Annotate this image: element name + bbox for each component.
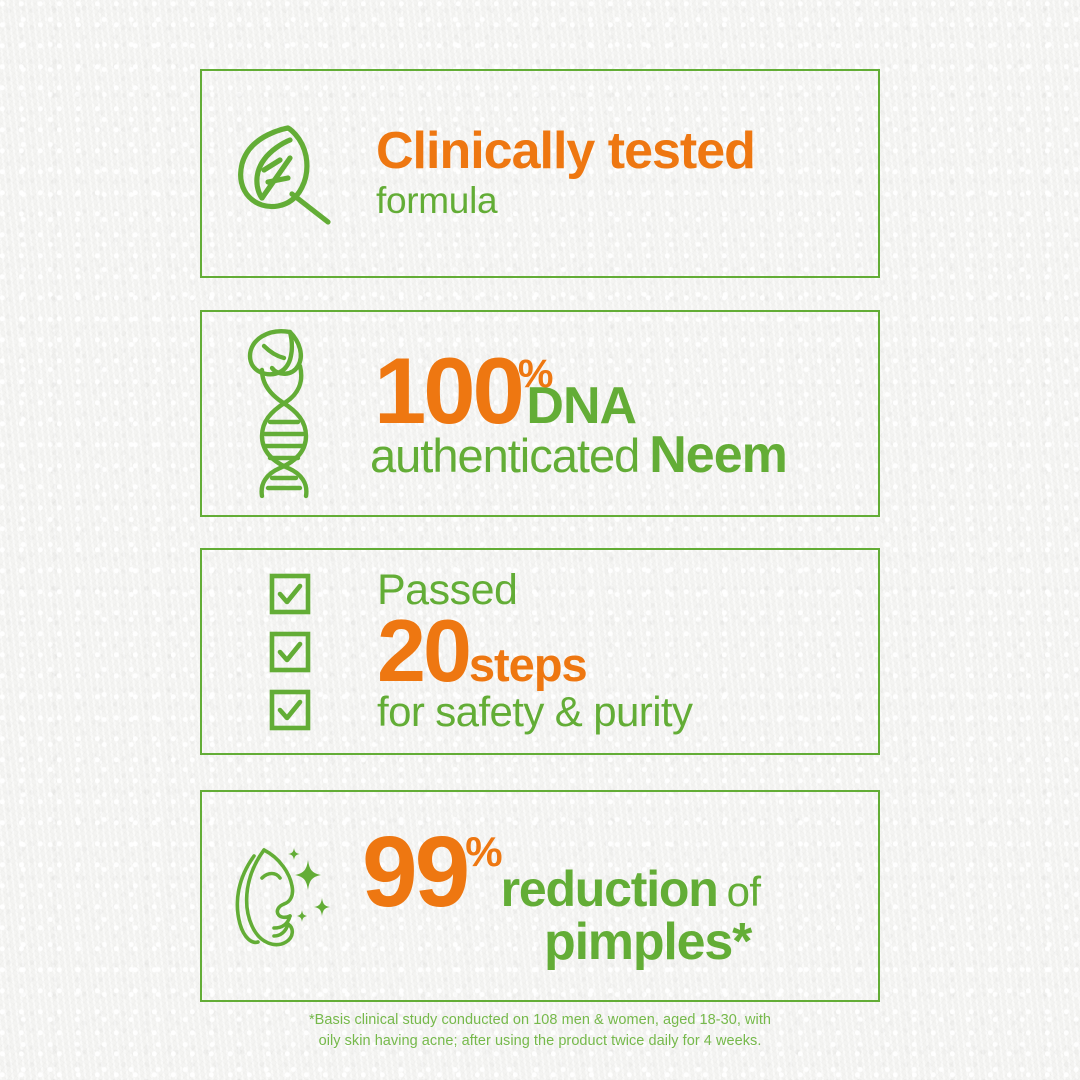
panel-pimple-reduction: 99 % reduction of pimples*: [200, 790, 880, 1002]
steps-line: 20 steps: [377, 611, 878, 692]
passed-steps-copy: Passed 20 steps for safety & purity: [377, 569, 878, 734]
footnote-line-1: *Basis clinical study conducted on 108 m…: [0, 1010, 1080, 1031]
neem-label: Neem: [649, 429, 787, 481]
of-label: of: [727, 872, 761, 912]
dna-line-2: authenticated Neem: [370, 429, 878, 481]
reduction-label: reduction: [501, 866, 718, 914]
reduction-line-1: 99 % reduction of: [362, 825, 878, 920]
clinically-tested-headline: Clinically tested: [376, 125, 878, 177]
clinically-tested-subline: formula: [376, 180, 878, 221]
reduction-percent-symbol: %: [465, 832, 502, 872]
infographic-stage: Clinically tested formula: [0, 0, 1080, 1080]
reduction-percent-number: 99: [362, 825, 467, 920]
leaf-magnifier-icon-slot: [202, 120, 372, 228]
dna-line-1: 100 % DNA: [374, 346, 878, 435]
panel-clinically-tested: Clinically tested formula: [200, 69, 880, 278]
dna-percent-symbol: %: [518, 355, 553, 393]
steps-number: 20: [377, 611, 469, 692]
footnote-disclaimer: *Basis clinical study conducted on 108 m…: [0, 1010, 1080, 1051]
panel-dna-authenticated-neem: 100 % DNA authenticated Neem: [200, 310, 880, 517]
dna-neem-copy: 100 % DNA authenticated Neem: [370, 346, 878, 481]
pimple-reduction-copy: 99 % reduction of pimples*: [362, 825, 878, 968]
dna-percent-number: 100: [374, 346, 522, 435]
steps-label: steps: [469, 643, 587, 686]
safety-purity-label: for safety & purity: [377, 690, 878, 734]
checkbox-checked-icon: [269, 689, 311, 731]
dna-leaf-icon: [234, 326, 338, 502]
leaf-magnifier-icon: [228, 120, 346, 228]
checkbox-list-icon: [269, 573, 311, 731]
clinically-tested-copy: Clinically tested formula: [372, 125, 878, 221]
face-sparkle-icon: [224, 840, 340, 952]
face-sparkle-icon-slot: [202, 840, 362, 952]
panel-passed-20-steps: Passed 20 steps for safety & purity: [200, 548, 880, 755]
checkbox-list-icon-slot: [202, 573, 377, 731]
checkbox-checked-icon: [269, 573, 311, 615]
footnote-line-2: oily skin having acne; after using the p…: [0, 1031, 1080, 1052]
dna-leaf-icon-slot: [202, 326, 370, 502]
checkbox-checked-icon: [269, 631, 311, 673]
authenticated-label: authenticated: [370, 432, 639, 479]
